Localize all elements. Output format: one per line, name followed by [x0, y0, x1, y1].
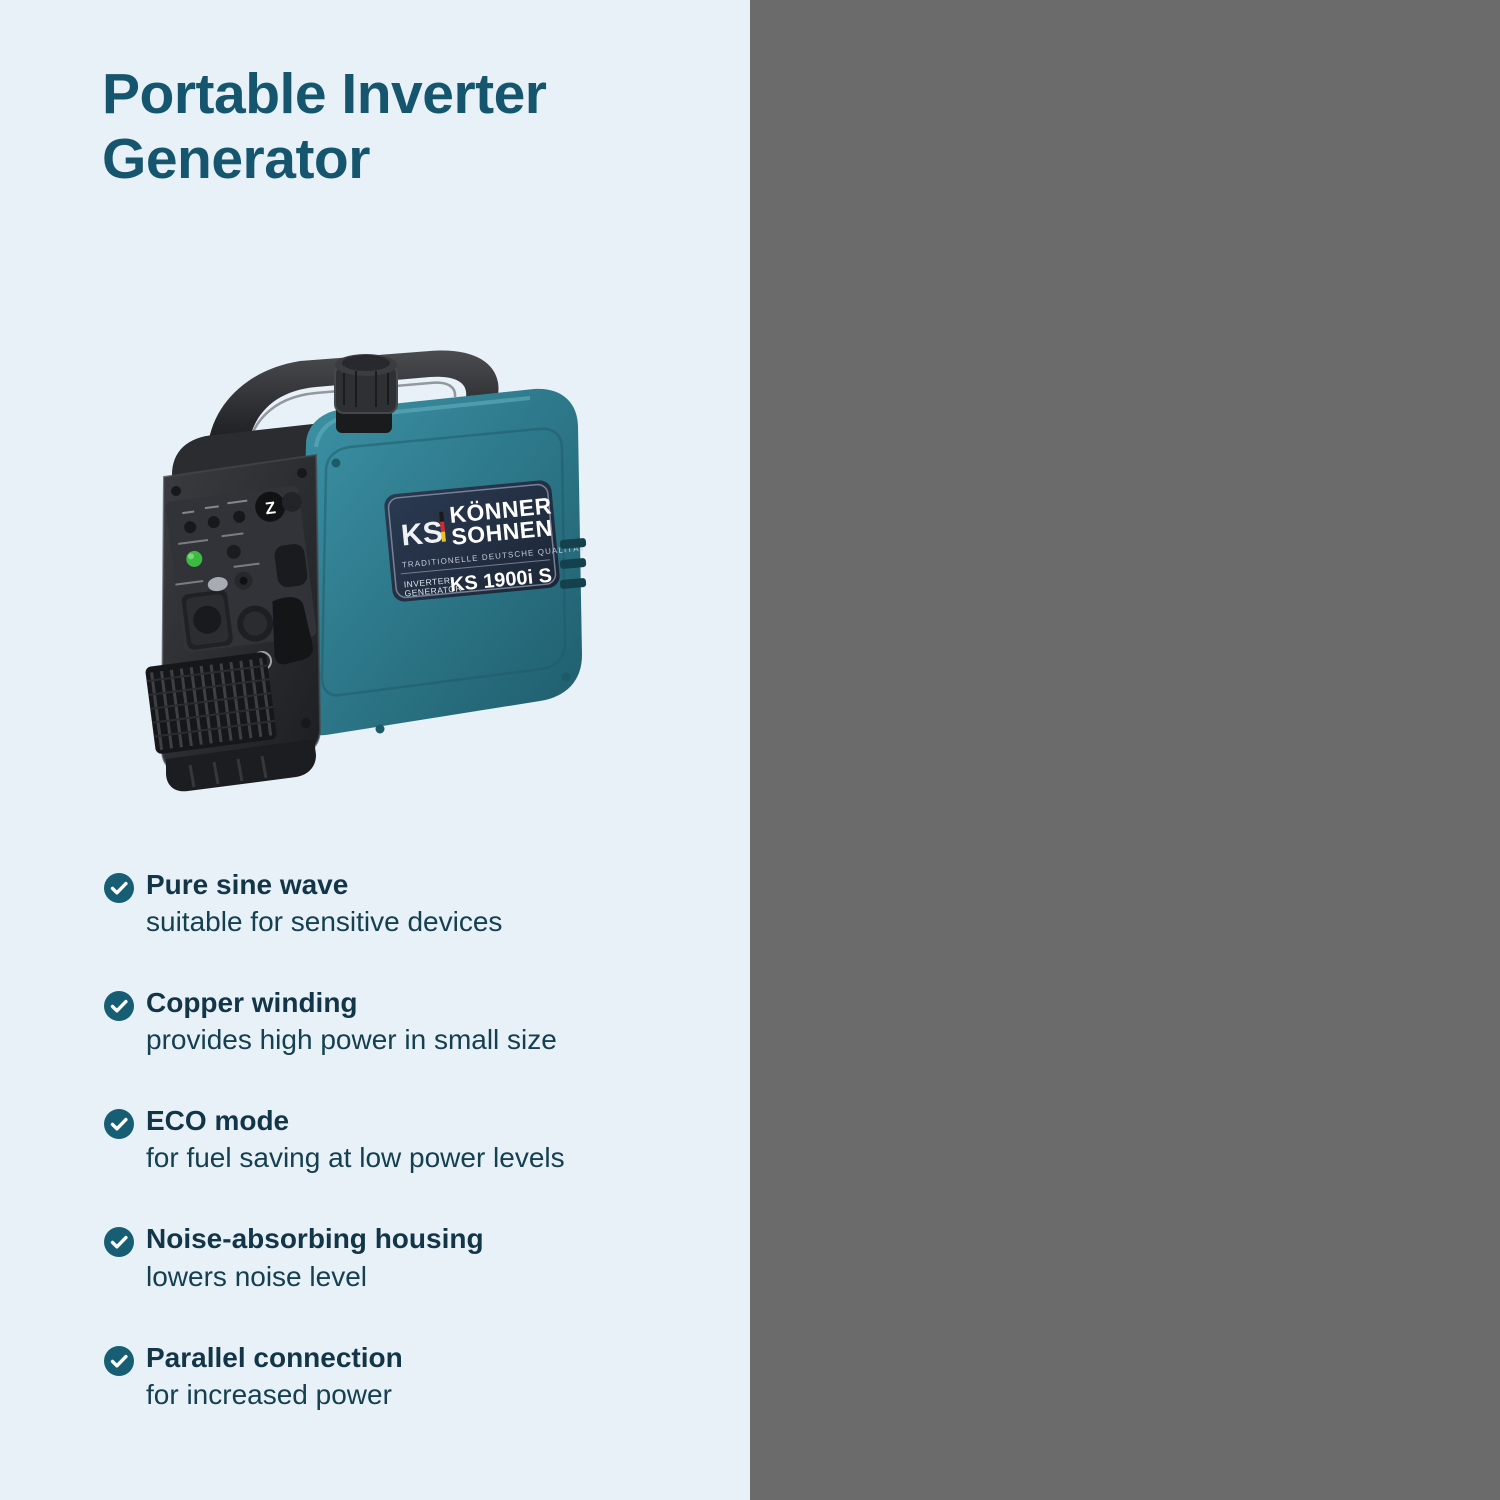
gasoline-generator-panel: Traditional gasoline generator: [750, 0, 1500, 1500]
comparison-infographic: Portable Inverter Generator: [0, 0, 1500, 1500]
feature-title: Parallel connection: [146, 1341, 724, 1375]
rotary-knob[interactable]: [273, 543, 308, 589]
inverter-generator-panel: Portable Inverter Generator: [0, 0, 750, 1500]
screw: [297, 468, 307, 478]
screw: [376, 725, 385, 734]
feature-title: Pure sine wave: [146, 868, 724, 902]
feature-item: Noise-absorbing housing lowers noise lev…: [104, 1222, 724, 1293]
check-icon: [104, 1227, 134, 1257]
feature-title: Copper winding: [146, 986, 724, 1020]
ks-logo-mark: KS: [400, 516, 445, 553]
feature-subtitle: provides high power in small size: [146, 1022, 724, 1057]
feature-item: Parallel connection for increased power: [104, 1341, 724, 1412]
check-icon: [104, 1109, 134, 1139]
fuel-cap: [335, 354, 397, 433]
feature-title: ECO mode: [146, 1104, 724, 1138]
inverter-generator-illustration: Z: [130, 325, 630, 815]
screw: [332, 459, 341, 468]
feature-subtitle: for increased power: [146, 1377, 724, 1412]
feature-subtitle: lowers noise level: [146, 1259, 724, 1294]
check-icon: [104, 873, 134, 903]
inverter-feature-list: Pure sine wave suitable for sensitive de…: [104, 868, 724, 1412]
feature-item: Pure sine wave suitable for sensitive de…: [104, 868, 724, 939]
feature-item: Copper winding provides high power in sm…: [104, 986, 724, 1057]
feature-subtitle: for fuel saving at low power levels: [146, 1140, 724, 1175]
feature-title: Noise-absorbing housing: [146, 1222, 724, 1256]
screw: [301, 718, 311, 728]
inverter-generator-image: Z: [130, 325, 630, 815]
feature-item: ECO mode for fuel saving at low power le…: [104, 1104, 724, 1175]
check-icon: [104, 1346, 134, 1376]
check-icon: [104, 991, 134, 1021]
screw: [562, 673, 571, 682]
side-louvers: [560, 538, 587, 589]
feature-subtitle: suitable for sensitive devices: [146, 904, 724, 939]
left-panel-title: Portable Inverter Generator: [102, 62, 682, 192]
screw: [171, 486, 181, 496]
